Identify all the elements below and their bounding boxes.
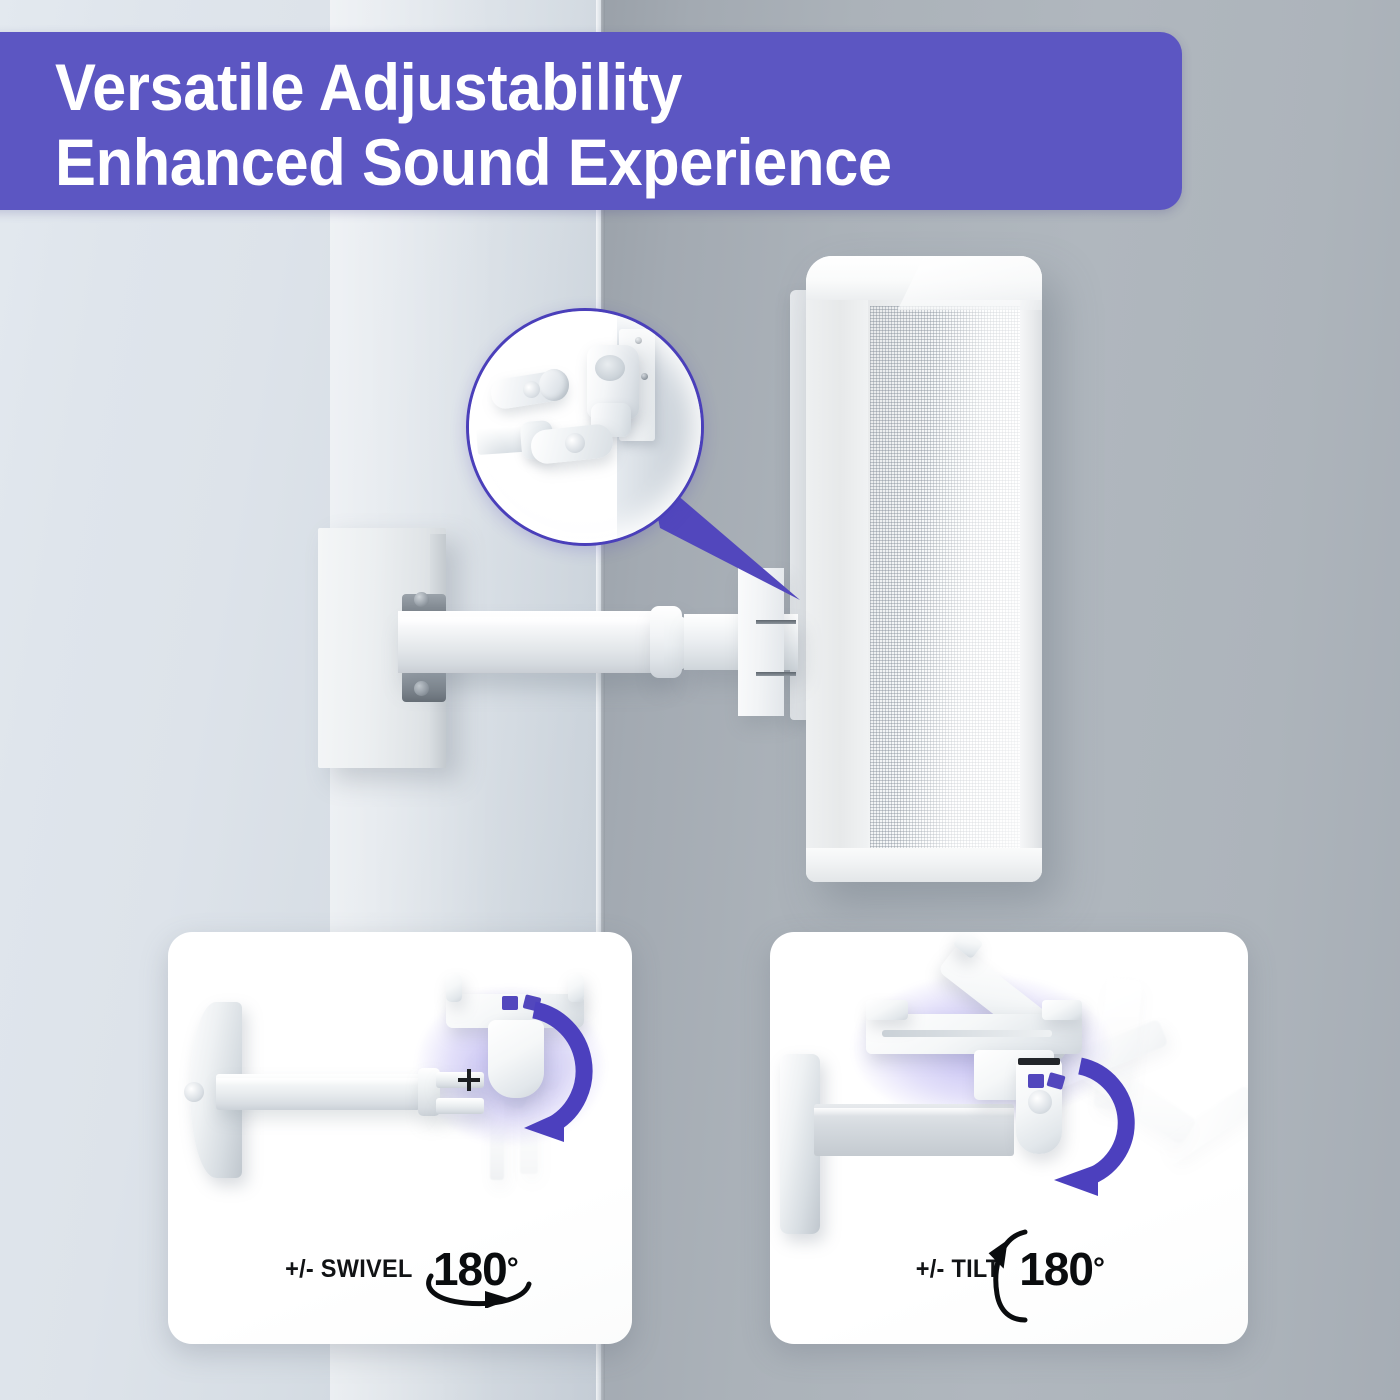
feature-panel-swivel: +/- SWIVEL 180 °: [168, 932, 632, 1344]
swivel-arrow-icon: [419, 1264, 537, 1308]
extension-arm-highlight: [400, 617, 656, 626]
headline-line-1: Versatile Adjustability: [55, 50, 1103, 125]
swivel-angle-group: 180 °: [433, 1246, 519, 1292]
swivel-caption-label: +/- SWIVEL: [285, 1255, 413, 1284]
tilt-head-tab-left: [866, 1000, 908, 1020]
speaker-body: [806, 256, 1042, 882]
speaker-bottom-bevel: [806, 848, 1042, 882]
tilt-rotation-arrow: [1008, 1052, 1198, 1242]
tilt-head-slot: [882, 1030, 1052, 1037]
speaker-mount-bracket: [738, 568, 784, 716]
tilt-head-tab-right: [1042, 1000, 1082, 1020]
speaker-side-face: [1020, 256, 1042, 882]
speaker-top-chamfer: [898, 256, 1042, 310]
speaker-grille-highlight: [870, 306, 1022, 862]
bracket-bolt-top: [414, 592, 429, 607]
tilt-degree-symbol: °: [1093, 1252, 1105, 1286]
swivel-arm-highlight: [216, 1078, 420, 1085]
tilt-arrow-icon: [985, 1222, 1039, 1326]
tilt-arm-highlight: [814, 1108, 1014, 1116]
swivel-caption: +/- SWIVEL 180 °: [168, 1246, 632, 1292]
joint-detail-callout: [466, 308, 704, 546]
speaker-bracket-slot-lower: [756, 672, 796, 676]
feature-panel-tilt: +/- TILT 180 °: [770, 932, 1248, 1344]
callout-inner-glow: [469, 311, 701, 543]
speaker-bracket-slot-upper: [756, 620, 796, 624]
tilt-mount-illustration: [770, 932, 1248, 1232]
tilt-angle-group: 180 °: [1019, 1246, 1105, 1292]
headline-line-2: Enhanced Sound Experience: [55, 125, 1103, 200]
bracket-bolt-bottom: [414, 681, 429, 696]
swivel-dome-hub: [184, 1082, 204, 1102]
speaker-front-edge: [806, 256, 868, 882]
swivel-head-hook-left: [446, 974, 462, 1002]
swivel-mount-illustration: [168, 932, 632, 1232]
tilt-caption: +/- TILT 180 °: [770, 1246, 1248, 1292]
product-feature-graphic: Versatile Adjustability Enhanced Sound E…: [0, 0, 1400, 1400]
swivel-rotation-arrow: [468, 992, 632, 1172]
headline-banner: Versatile Adjustability Enhanced Sound E…: [0, 32, 1182, 210]
